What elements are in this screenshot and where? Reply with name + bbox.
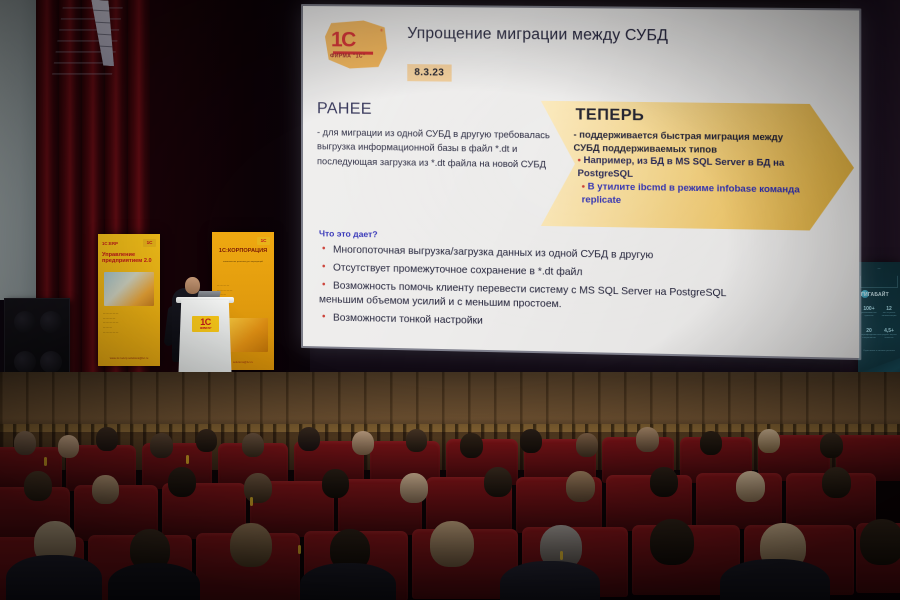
rollup-banner-1c-erp: 1C:ERP Управление предприятием 2.0 — — —… [98,234,160,366]
logo-mark-text: 1C [331,29,355,50]
audience [0,425,900,600]
benefits-section: Что это дает? Многопоточная выгрузка/заг… [319,228,845,340]
column-now-arrow: ТЕПЕРЬ - поддерживается быстрая миграция… [541,101,854,231]
conference-hall-scene: 1C:ERP Управление предприятием 2.0 — — —… [0,0,900,600]
benefits-list: Многопоточная выгрузка/загрузка данных и… [319,243,845,337]
bullet-icon: • [578,154,581,165]
slide-title: Упрощение миграции между СУБД [407,25,668,46]
podium-logo-1c: 1С ФИРМА "1С" [192,316,219,332]
banner-erp-logo-1c: 1C [143,239,156,247]
column-now-line3-text: В утилите ibcmd в режиме infobase команд… [582,180,800,204]
banner-erp-title: Управление предприятием 2.0 [102,252,156,265]
wall-pillar [0,0,36,300]
gigabyte-stat-label: средняя оценка клиентов [881,334,897,339]
column-before-heading: РАНЕЕ [317,100,551,121]
column-now-line1: - поддерживается быстрая миграция между … [573,128,812,157]
banner-erp-url: www.1c.ru/erp solutions@1c.ru [98,356,160,360]
bullet-icon: • [582,180,585,191]
version-badge: 8.3.23 [407,64,451,82]
logo-registered-icon: ® [380,28,383,33]
podium-logo-sub: ФИРМА "1С" [192,327,219,330]
banner-corp-logo-1c: 1C [257,237,270,245]
gigabyte-stat-label: лет на рынке автоматизации [881,312,897,317]
slide-logo-1c: 1C ФИРМА "1С" ® [325,20,387,69]
column-now-line2: • Например, из БД в MS SQL Server в БД н… [578,154,817,183]
projection-screen: 1C ФИРМА "1С" ® Упрощение миграции между… [303,6,859,358]
column-now-heading: ТЕПЕРЬ [576,106,645,125]
gigabyte-footer: Отраслевые и типовые решения [860,350,898,353]
podium-logo-mark: 1С [200,317,211,327]
column-before-body: - для миграции из одной СУБД в другую тр… [317,125,551,172]
gigabyte-stat-label: сертифицированных специалистов [861,334,877,339]
banner-corp-title: 1С:КОРПОРАЦИЯ [216,248,270,254]
slide: 1C ФИРМА "1С" ® Упрощение миграции между… [303,6,859,358]
logo-sub-text: ФИРМА "1С" [330,53,366,59]
column-now-line2-text: Например, из БД в MS SQL Server в БД на … [578,154,785,179]
screen-surface: 1C ФИРМА "1С" ® Упрощение миграции между… [303,6,859,358]
banner-gigabyte-title: ГИГАБАЙТ [861,292,898,298]
gigabyte-stat-label: реализованных проектов [861,312,877,317]
column-before: РАНЕЕ - для миграции из одной СУБД в дру… [317,100,551,172]
banner-corp-subtitle: комплексное решение для корпораций [217,260,269,264]
column-now-line3: • В утилите ibcmd в режиме infobase кома… [582,180,819,209]
